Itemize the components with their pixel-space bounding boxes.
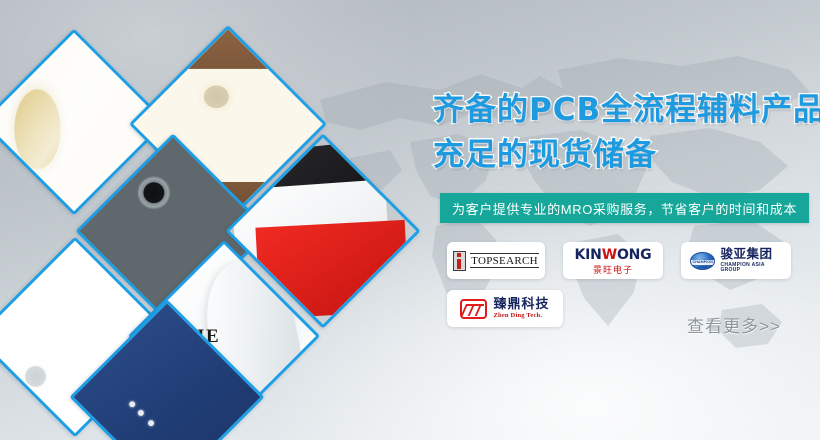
view-more-link[interactable]: 查看更多>>	[687, 312, 781, 337]
sheet-dot	[129, 401, 135, 407]
topsearch-block-icon	[453, 251, 466, 271]
logo-zhen-ding[interactable]: 臻鼎科技 Zhen Ding Tech.	[447, 290, 563, 327]
logo-topsearch-label: TOPSEARCH	[470, 253, 539, 268]
logo-kinwong[interactable]: KINWONG 景旺电子	[563, 242, 663, 279]
topsearch-lockup: TOPSEARCH	[453, 251, 539, 271]
logo-zhen-ding-label-en: Zhen Ding Tech.	[493, 313, 549, 320]
banner-subtitle-bar: 为客户提供专业的MRO采购服务，节省客户的时间和成本	[440, 193, 809, 223]
hero-banner: JIE 齐备的PCB全流程辅料产品、 充足的现货储备 为客户提供专业的MRO采购…	[0, 0, 820, 440]
sheet-dot	[138, 410, 144, 416]
headline-line-1: 齐备的PCB全流程辅料产品、	[433, 92, 820, 128]
globe-icon-label: CHAMPION ASIA	[691, 260, 714, 270]
product-collage: JIE	[0, 10, 416, 440]
zhending-lockup: 臻鼎科技 Zhen Ding Tech.	[460, 298, 549, 320]
champion-text-block: 骏亚集团 CHAMPION ASIA GROUP	[720, 248, 782, 273]
zd-monogram-icon	[460, 299, 487, 319]
logo-zhen-ding-label-cn: 臻鼎科技	[493, 298, 549, 311]
headline-line-2: 充足的现货储备	[433, 133, 820, 178]
banner-text-panel: 齐备的PCB全流程辅料产品、 充足的现货储备 为客户提供专业的MRO采购服务，节…	[425, 0, 820, 440]
globe-icon: CHAMPION ASIA	[690, 252, 715, 270]
logo-champion-asia[interactable]: CHAMPION ASIA 骏亚集团 CHAMPION ASIA GROUP	[681, 242, 791, 279]
sheet-dot	[148, 420, 154, 426]
logo-topsearch[interactable]: TOPSEARCH	[447, 242, 545, 279]
logo-champion-label-cn: 骏亚集团	[720, 248, 782, 261]
kinwong-lockup: KINWONG 景旺电子	[575, 247, 652, 275]
champion-lockup: CHAMPION ASIA 骏亚集团 CHAMPION ASIA GROUP	[690, 248, 782, 273]
logo-kinwong-label-cn: 景旺电子	[575, 266, 652, 275]
banner-subtitle-text: 为客户提供专业的MRO采购服务，节省客户的时间和成本	[452, 199, 797, 218]
banner-headline: 齐备的PCB全流程辅料产品、 充足的现货储备	[433, 88, 820, 178]
logo-kinwong-label-en: KINWONG	[575, 247, 652, 263]
zhending-text-block: 臻鼎科技 Zhen Ding Tech.	[493, 298, 549, 320]
logo-champion-label-en: CHAMPION ASIA GROUP	[720, 263, 782, 273]
